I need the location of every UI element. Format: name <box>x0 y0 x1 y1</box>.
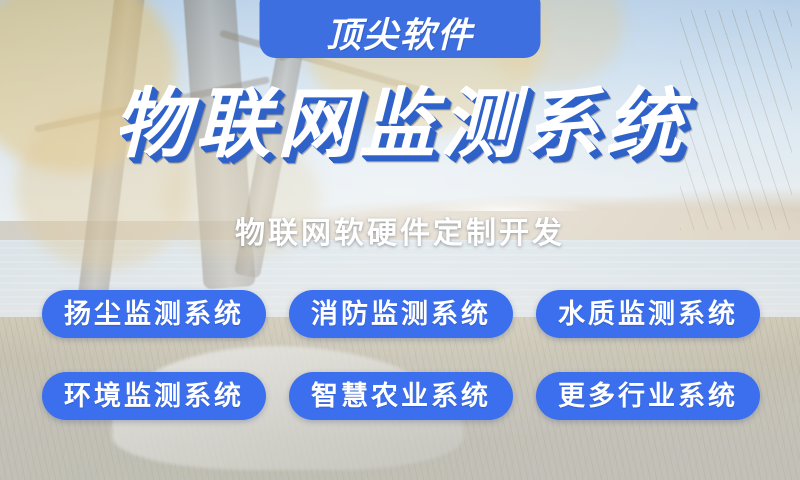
pill-label: 消防监测系统 <box>311 301 491 328</box>
pill-label: 智慧农业系统 <box>311 383 491 410</box>
pill-label: 环境监测系统 <box>64 383 244 410</box>
promo-banner: 顶尖软件 物联网监测系统 物联网软硬件定制开发 扬尘监测系统 消防监测系统 水质… <box>0 0 800 480</box>
brand-badge: 顶尖软件 <box>260 0 541 58</box>
pill-system-4[interactable]: 环境监测系统 <box>42 372 266 420</box>
system-category-list: 扬尘监测系统 消防监测系统 水质监测系统 环境监测系统 智慧农业系统 更多行业系… <box>42 290 760 420</box>
page-title: 物联网监测系统 <box>0 86 800 162</box>
banner-content: 顶尖软件 物联网监测系统 物联网软硬件定制开发 扬尘监测系统 消防监测系统 水质… <box>0 0 800 480</box>
pill-label: 更多行业系统 <box>558 383 738 410</box>
brand-badge-label: 顶尖软件 <box>326 19 474 54</box>
pill-system-3[interactable]: 水质监测系统 <box>536 290 760 338</box>
page-subtitle: 物联网软硬件定制开发 <box>0 208 800 252</box>
pill-label: 水质监测系统 <box>558 301 738 328</box>
pill-system-2[interactable]: 消防监测系统 <box>289 290 513 338</box>
pill-system-1[interactable]: 扬尘监测系统 <box>42 290 266 338</box>
pill-system-6[interactable]: 更多行业系统 <box>536 372 760 420</box>
pill-system-5[interactable]: 智慧农业系统 <box>289 372 513 420</box>
pill-label: 扬尘监测系统 <box>64 301 244 328</box>
